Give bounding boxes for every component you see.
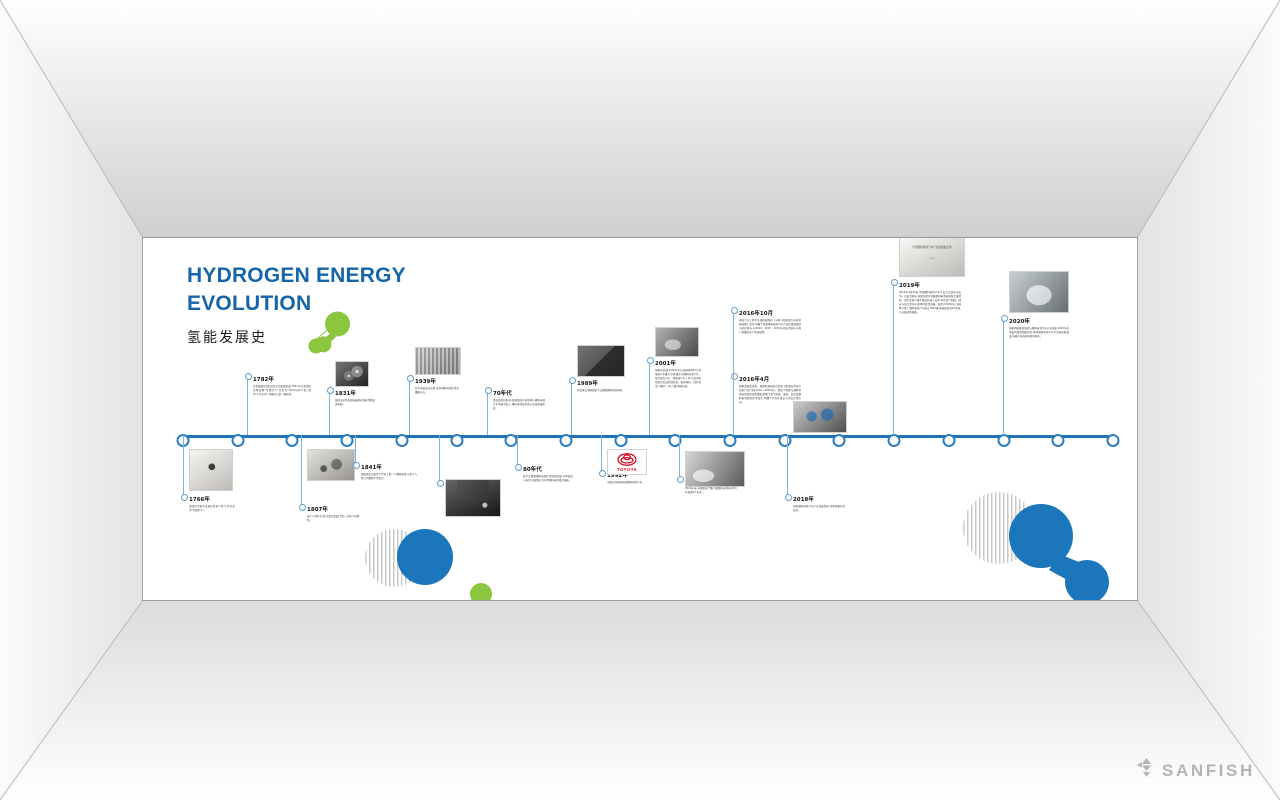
event-year: 1766年 — [189, 495, 235, 503]
event-stem — [487, 389, 488, 435]
timeline-event[interactable]: 70年代受石油危机影响,各国加快对氢能源与燃料电池汽车的研究投入,燃料电池技术进… — [487, 389, 549, 435]
event-thumbnail[interactable] — [335, 361, 369, 387]
event-stem — [439, 435, 440, 483]
green-molecule-icon — [306, 310, 351, 357]
timeline-event[interactable]: 1841年英国格罗夫制作了世界上第一个燃料电池,以氢气与氧气为燃料产生电力。 — [355, 435, 421, 465]
whitepaper-title: 中国燃料电池汽车产业发展白皮书 — [905, 246, 959, 250]
event-body: 70年代受石油危机影响,各国加快对氢能源与燃料电池汽车的研究投入,燃料电池技术进… — [493, 389, 545, 411]
event-thumbnail[interactable] — [577, 345, 625, 377]
event-description: 英国法拉第发现电磁感应现象并制成发电机。 — [335, 399, 375, 407]
page-title-en: HYDROGEN ENERGY EVOLUTION — [187, 262, 406, 318]
event-stem-dot — [599, 470, 606, 477]
timeline-node[interactable] — [997, 434, 1010, 447]
scene: HYDROGEN ENERGY EVOLUTION 氢能发展史 1766年英国科… — [0, 0, 1280, 800]
wall-artwork-panel: HYDROGEN ENERGY EVOLUTION 氢能发展史 1766年英国科… — [143, 238, 1137, 600]
event-stem-dot — [891, 279, 898, 286]
event-body: 2019年2019年4月26日,中国燃料电池汽车产业大会发布白皮书。白皮书指出,… — [899, 281, 961, 315]
timeline-event[interactable]: 2014年2014年末,丰田推出了量产版燃料电池轿车Mirai,被称为"未来"。 — [679, 435, 741, 479]
event-body: 1841年英国格罗夫制作了世界上第一个燃料电池,以氢气与氧气为燃料产生电力。 — [361, 463, 417, 481]
event-thumbnail[interactable] — [307, 449, 355, 481]
event-stem-dot — [1001, 315, 1008, 322]
event-stem — [517, 435, 518, 467]
event-body: 1782年拉瓦锡通过实验证实水由氢氧组成,1787年,拉瓦锡正式将这种"可燃空气… — [253, 375, 311, 397]
event-description: 中国汽车工程学会组织编制的《节能与新能源汽车技术路线图》发布,明确了中国燃料电池… — [739, 319, 801, 335]
whitepaper-subtitle: 2019 — [913, 258, 951, 260]
timeline-node[interactable] — [942, 434, 955, 447]
event-body: 1807年瑞士人伊萨克·德·里瓦茨制成了第一台氢气内燃机。 — [307, 505, 359, 523]
event-thumbnail[interactable]: TOYOTA — [607, 449, 647, 475]
event-stem-dot — [437, 480, 444, 487]
sanfish-logo-icon — [1136, 757, 1158, 784]
blue-circle-left — [397, 529, 453, 585]
event-year: 1782年 — [253, 375, 311, 383]
event-thumbnail[interactable] — [445, 479, 501, 517]
event-description: 瑞士人伊萨克·德·里瓦茨制成了第一台氢气内燃机。 — [307, 515, 359, 523]
timeline-node[interactable] — [888, 434, 901, 447]
event-thumbnail[interactable] — [415, 347, 461, 375]
event-stem-dot — [353, 462, 360, 469]
event-stem — [183, 435, 184, 497]
event-stem-dot — [245, 373, 252, 380]
event-description: 罗杰电池成功应用,成为燃料电池技术的重要节点。 — [415, 387, 459, 395]
timeline-event[interactable]: 2001年国家科技部于2001年启动国家863计划电动汽车重大专项,确立以燃料电… — [649, 359, 705, 435]
event-body: 1989年巴拉德公司研发质子交换膜燃料电池电堆。 — [577, 379, 629, 393]
event-description: 2014年末,丰田推出了量产版燃料电池轿车Mirai,被称为"未来"。 — [685, 487, 737, 495]
event-stem — [787, 435, 788, 497]
event-thumbnail[interactable] — [655, 327, 699, 357]
event-year: 1831年 — [335, 389, 375, 397]
timeline-event[interactable]: 1989年巴拉德公司研发质子交换膜燃料电池电堆。 — [571, 379, 633, 435]
event-stem-dot — [407, 375, 414, 382]
event-stem-dot — [785, 494, 792, 501]
event-stem — [649, 359, 650, 435]
event-body: 1831年英国法拉第发现电磁感应现象并制成发电机。 — [335, 389, 375, 407]
watermark: SANFISH — [1136, 757, 1255, 784]
event-stem-dot — [647, 357, 654, 364]
event-stem — [893, 281, 894, 435]
timeline-event[interactable]: 1831年英国法拉第发现电磁感应现象并制成发电机。 — [329, 389, 379, 435]
timeline-event[interactable]: 2019年2019年4月26日,中国燃料电池汽车产业大会发布白皮书。白皮书指出,… — [893, 281, 965, 435]
event-thumbnail[interactable] — [685, 451, 745, 487]
event-stem — [1003, 317, 1004, 435]
event-description: 受石油危机影响,各国加快对氢能源与燃料电池汽车的研究投入,燃料电池技术进入快速发… — [493, 399, 545, 411]
event-year: 2016年10月 — [739, 309, 801, 317]
event-year: 2018年 — [793, 495, 845, 503]
timeline-node[interactable] — [505, 434, 518, 447]
watermark-text: SANFISH — [1162, 761, 1255, 781]
event-description: 国家科技部于2001年启动国家863计划电动汽车重大专项,确立以燃料电池汽车、混… — [655, 369, 701, 389]
timeline-event[interactable]: 1992年丰田公司开始研发燃料电池汽车。TOYOTA — [601, 435, 655, 473]
event-stem — [409, 377, 410, 435]
event-year: 2001年 — [655, 359, 701, 367]
event-thumbnail[interactable] — [1009, 271, 1069, 313]
event-year: 1807年 — [307, 505, 359, 513]
event-stem — [601, 435, 602, 473]
event-body: 1766年英国科学家卡文迪许发现了氢气,并命名为"可燃空气"。 — [189, 495, 235, 513]
event-body: 2001年国家科技部于2001年启动国家863计划电动汽车重大专项,确立以燃料电… — [655, 359, 701, 389]
toyota-logo-icon — [617, 453, 637, 466]
timeline-event[interactable]: 1782年拉瓦锡通过实验证实水由氢氧组成,1787年,拉瓦锡正式将这种"可燃空气… — [247, 375, 315, 435]
event-thumbnail[interactable] — [793, 401, 847, 433]
event-stem — [571, 379, 572, 435]
event-body: 1939年罗杰电池成功应用,成为燃料电池技术的重要节点。 — [415, 377, 459, 395]
timeline-node[interactable] — [286, 434, 299, 447]
event-stem — [329, 389, 330, 435]
event-description: 英国科学家卡文迪许发现了氢气,并命名为"可燃空气"。 — [189, 505, 235, 513]
event-stem-dot — [181, 494, 188, 501]
timeline-event[interactable]: 1807年瑞士人伊萨克·德·里瓦茨制成了第一台氢气内燃机。 — [301, 435, 363, 507]
event-year: 80年代 — [523, 465, 573, 473]
event-body: 2016年10月中国汽车工程学会组织编制的《节能与新能源汽车技术路线图》发布,明… — [739, 309, 801, 335]
event-stem — [301, 435, 302, 507]
event-thumbnail[interactable] — [189, 449, 233, 491]
event-year: 1939年 — [415, 377, 459, 385]
event-stem — [679, 435, 680, 479]
event-description: 2019年4月26日,中国燃料电池汽车产业大会发布白皮书。白皮书指出,中国已初步… — [899, 291, 961, 315]
event-stem-dot — [327, 387, 334, 394]
event-stem — [355, 435, 356, 465]
event-stem-dot — [299, 504, 306, 511]
event-body: 80年代质子交换膜燃料电池技术取得突破,功率密度与寿命大幅提升,为车用燃料电池奠… — [523, 465, 573, 483]
event-description: 拉瓦锡通过实验证实水由氢氧组成,1787年,拉瓦锡正式将这种"可燃空气"命名为"… — [253, 385, 311, 397]
event-description: 中国燃料电池汽车产业发展提速,多地开展示范运营。 — [793, 505, 845, 513]
event-year: 70年代 — [493, 389, 545, 397]
event-stem — [247, 375, 248, 435]
event-stem-dot — [569, 377, 576, 384]
event-stem-dot — [677, 476, 684, 483]
timeline-node[interactable] — [1052, 434, 1065, 447]
timeline-event[interactable]: 2020年国家积极推进氢能与燃料电池汽车产业发展,2020年多项支持政策相继出台… — [1003, 317, 1073, 435]
event-stem-dot — [731, 307, 738, 314]
green-circle-left — [470, 583, 492, 600]
event-body: 2018年中国燃料电池汽车产业发展提速,多地开展示范运营。 — [793, 495, 845, 513]
timeline-event[interactable]: 1950年美国通用汽车公司开发出碱性燃料电池,应用于美国国家航空航天局的阿波罗登… — [439, 435, 503, 483]
toyota-wordmark: TOYOTA — [617, 467, 637, 472]
event-description: 英国格罗夫制作了世界上第一个燃料电池,以氢气与氧气为燃料产生电力。 — [361, 473, 417, 481]
event-year: 1841年 — [361, 463, 417, 471]
page-title-cn: 氢能发展史 — [187, 327, 406, 347]
event-description: 丰田公司开始研发燃料电池汽车。 — [607, 481, 651, 485]
event-stem-dot — [485, 387, 492, 394]
timeline-event[interactable]: 1939年罗杰电池成功应用,成为燃料电池技术的重要节点。 — [409, 377, 463, 435]
title-block: HYDROGEN ENERGY EVOLUTION 氢能发展史 — [187, 262, 406, 347]
timeline-event[interactable]: 1766年英国科学家卡文迪许发现了氢气,并命名为"可燃空气"。 — [183, 435, 239, 497]
event-description: 质子交换膜燃料电池技术取得突破,功率密度与寿命大幅提升,为车用燃料电池奠定基础。 — [523, 475, 573, 483]
timeline-event[interactable]: 2018年中国燃料电池汽车产业发展提速,多地开展示范运营。 — [787, 435, 849, 497]
event-stem-dot — [515, 464, 522, 471]
event-description: 巴拉德公司研发质子交换膜燃料电池电堆。 — [577, 389, 629, 393]
event-description: 国家积极推进氢能与燃料电池汽车产业发展,2020年多项支持政策相继出台,推动燃料… — [1009, 327, 1069, 339]
event-year: 2019年 — [899, 281, 961, 289]
event-stem — [733, 309, 734, 435]
timeline-node[interactable] — [1107, 434, 1120, 447]
timeline-event[interactable]: 80年代质子交换膜燃料电池技术取得突破,功率密度与寿命大幅提升,为车用燃料电池奠… — [517, 435, 577, 467]
event-body: 2020年国家积极推进氢能与燃料电池汽车产业发展,2020年多项支持政策相继出台… — [1009, 317, 1069, 339]
event-year: 2020年 — [1009, 317, 1069, 325]
blue-molecule-icon — [1003, 496, 1113, 600]
event-thumbnail[interactable]: 中国燃料电池汽车产业发展白皮书2019 — [899, 238, 965, 277]
event-year: 1989年 — [577, 379, 629, 387]
